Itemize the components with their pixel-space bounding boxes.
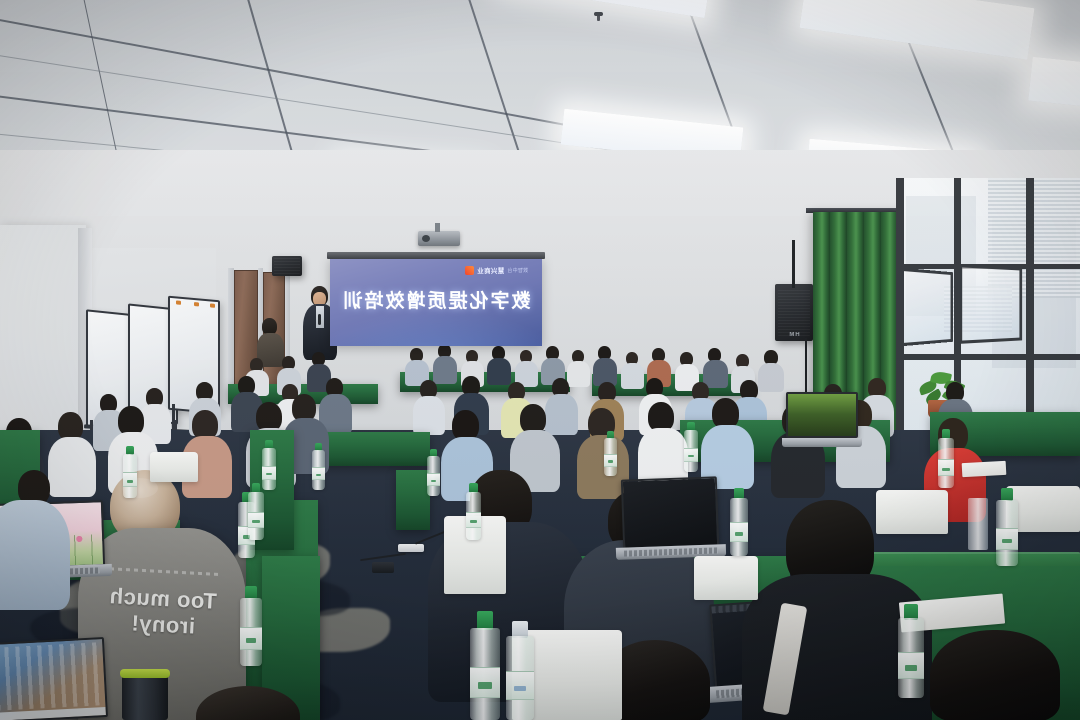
projector-lens [422, 235, 430, 242]
phone-on-floor[interactable] [372, 562, 394, 573]
led-panel-light [1028, 57, 1080, 120]
glass-tumbler[interactable] [968, 498, 988, 550]
whiteboard-clip-icon [194, 302, 199, 306]
wall-speaker-left [272, 256, 302, 276]
slide-title: 数字化提质增效培训 [330, 286, 542, 313]
tumbler-lid[interactable] [120, 669, 170, 678]
bottle-label [506, 671, 534, 700]
ceiling-projector [418, 231, 460, 246]
seminar-room-photo: HM 数智中台 慧兴商业 数字化提质增效培训 [0, 0, 1080, 720]
water-bottle[interactable] [466, 492, 481, 540]
water-bottle[interactable] [730, 498, 748, 556]
travel-tumbler[interactable] [122, 674, 168, 720]
bottle-label [240, 627, 262, 650]
slide-logo-text: 慧兴商业 [477, 265, 504, 275]
slide-logo-subtext: 数智中台 [507, 267, 528, 274]
whiteboard-clip-icon [210, 303, 215, 307]
speaker-grille [274, 258, 299, 275]
awning-window-pane[interactable] [900, 267, 953, 346]
bottle-label [248, 512, 264, 528]
bottle-label [938, 459, 954, 476]
bottle-label [466, 512, 481, 528]
whiteboard-clip-icon [176, 300, 181, 304]
wall-speaker-right: HM [775, 284, 813, 341]
water-bottle[interactable] [248, 492, 264, 540]
bottle-label [123, 472, 137, 487]
laptop-keyboard-base[interactable] [782, 438, 862, 447]
water-bottle[interactable] [604, 438, 617, 476]
water-bottle[interactable] [898, 618, 924, 698]
projection-screen-housing [327, 252, 545, 259]
water-bottle[interactable] [312, 450, 325, 490]
led-panel-light [497, 0, 713, 18]
slide-background-glow [330, 311, 542, 346]
water-bottle[interactable] [427, 456, 440, 496]
water-bottle[interactable] [938, 438, 954, 488]
handheld-microphone [318, 314, 321, 325]
desktop-icon-grid [0, 642, 102, 710]
bottle-label [684, 448, 698, 462]
bottle-label [427, 473, 440, 487]
bottle-label [312, 467, 325, 481]
laptop-screen-content [788, 394, 856, 436]
water-bottle[interactable] [996, 500, 1018, 566]
water-bottle[interactable] [684, 430, 698, 472]
speaker-stand-pole [792, 240, 795, 288]
notepad[interactable] [962, 461, 1007, 477]
laptop-windows-desktop[interactable] [0, 637, 108, 720]
led-panel-light [800, 0, 1035, 60]
projection-screen: 数智中台 慧兴商业 数字化提质增效培训 [330, 258, 542, 346]
bottle-label [262, 466, 276, 480]
water-bottle[interactable] [262, 448, 276, 490]
laptop-screen-content [0, 639, 106, 720]
water-bottle[interactable] [470, 628, 500, 720]
water-bottle[interactable] [506, 636, 534, 720]
slide-logo: 数智中台 慧兴商业 [465, 265, 528, 275]
table-surface [860, 552, 1080, 566]
bottle-label [604, 454, 617, 467]
water-bottle[interactable] [123, 454, 137, 498]
table-end-panel [396, 470, 430, 530]
floor-power-strip [398, 544, 424, 552]
laptop-green-slide[interactable] [786, 392, 858, 438]
bottle-label [470, 667, 500, 698]
bottle-label [898, 652, 924, 679]
chair-cover [694, 556, 758, 600]
awning-window-pane[interactable] [959, 264, 1022, 344]
chair-cover [150, 452, 198, 482]
water-bottle[interactable] [240, 598, 262, 666]
bottle-label [730, 522, 748, 542]
laptop-black-screen[interactable] [621, 476, 719, 549]
speaker-grille [778, 289, 810, 337]
speaker-brand-label: HM [775, 332, 813, 338]
bottle-label [996, 528, 1018, 550]
chair-cover [876, 490, 948, 534]
sprinkler-head [595, 12, 602, 25]
slide-logo-mark-icon [465, 266, 474, 275]
